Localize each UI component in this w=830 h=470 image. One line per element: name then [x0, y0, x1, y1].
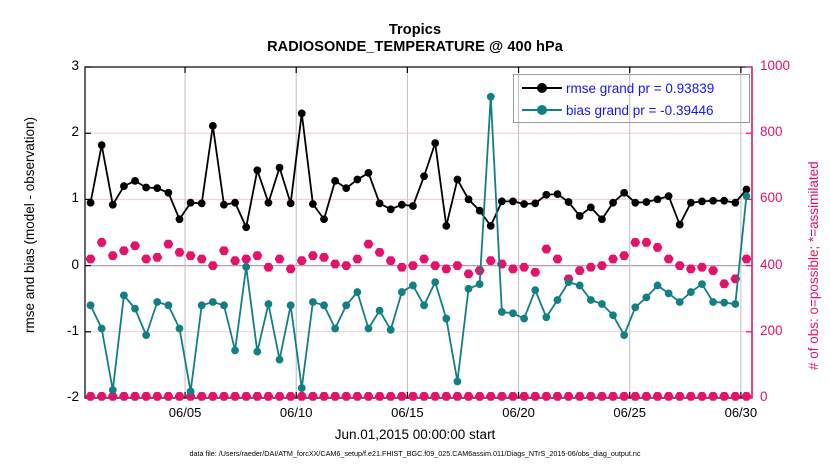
series-point-rmse — [410, 203, 417, 210]
legend-swatch-bias-icon — [520, 101, 564, 119]
series-point-bias — [465, 285, 472, 292]
y-axis-left-tick: 3 — [39, 58, 79, 73]
y-axis-right-tick: 200 — [760, 323, 820, 338]
series-point-bias — [432, 279, 439, 286]
legend-label-rmse: rmse grand pr = 0.93839 — [566, 81, 714, 96]
series-point-rmse — [599, 216, 606, 223]
series-point-bias — [298, 385, 305, 392]
series-point-bias — [221, 302, 228, 309]
series-point-bias — [98, 325, 105, 332]
series-point-bias — [232, 347, 239, 354]
series-point-bias — [554, 297, 561, 304]
series-point-rmse — [198, 200, 205, 207]
series-point-rmse — [621, 189, 628, 196]
series-point-bias — [587, 297, 594, 304]
series-point-bias — [176, 325, 183, 332]
series-point-rmse — [487, 222, 494, 229]
series-point-rmse — [432, 140, 439, 147]
series-point-bias — [487, 93, 494, 100]
series-point-bias — [187, 388, 194, 395]
y-axis-left-tick: 1 — [39, 190, 79, 205]
series-point-bias — [498, 309, 505, 316]
series-point-bias — [165, 302, 172, 309]
y-axis-right-tick: 800 — [760, 124, 820, 139]
x-axis-tick: 06/05 — [150, 405, 220, 420]
series-point-rmse — [232, 199, 239, 206]
series-point-rmse — [87, 199, 94, 206]
legend-label-bias: bias grand pr = -0.39446 — [566, 103, 713, 118]
series-point-bias — [309, 299, 316, 306]
series-point-bias — [676, 299, 683, 306]
series-point-bias — [476, 281, 483, 288]
series-point-rmse — [387, 206, 394, 213]
series-point-bias — [510, 310, 517, 317]
series-point-rmse — [476, 207, 483, 214]
series-point-rmse — [343, 185, 350, 192]
series-point-bias — [398, 289, 405, 296]
series-point-bias — [354, 289, 361, 296]
y-axis-right-tick: 0 — [760, 389, 820, 404]
series-point-bias — [410, 282, 417, 289]
series-point-rmse — [421, 173, 428, 180]
y-axis-right-tick: 400 — [760, 257, 820, 272]
series-point-bias — [454, 378, 461, 385]
series-point-rmse — [176, 216, 183, 223]
x-axis-tick: 06/20 — [484, 405, 554, 420]
chart-screenshot: Tropics RADIOSONDE_TEMPERATURE @ 400 hPa… — [0, 0, 830, 470]
series-point-rmse — [165, 189, 172, 196]
series-point-bias — [154, 299, 161, 306]
series-point-bias — [621, 332, 628, 339]
y-axis-left-label: rmse and bias (model - observation) — [22, 95, 37, 355]
plot-canvas — [0, 0, 830, 470]
series-point-bias — [721, 299, 728, 306]
series-point-bias — [632, 304, 639, 311]
series-point-rmse — [565, 199, 572, 206]
series-point-bias — [287, 302, 294, 309]
series-point-rmse — [643, 199, 650, 206]
series-point-bias — [265, 301, 272, 308]
series-point-rmse — [276, 164, 283, 171]
series-point-bias — [699, 281, 706, 288]
series-point-bias — [343, 302, 350, 309]
series-point-bias — [599, 301, 606, 308]
series-point-rmse — [687, 199, 694, 206]
x-axis-tick: 06/10 — [261, 405, 331, 420]
series-point-rmse — [254, 167, 261, 174]
series-point-bias — [121, 292, 128, 299]
series-point-rmse — [454, 176, 461, 183]
series-point-rmse — [287, 200, 294, 207]
series-point-bias — [387, 326, 394, 333]
series-point-bias — [132, 305, 139, 312]
series-point-bias — [143, 332, 150, 339]
series-point-rmse — [521, 201, 528, 208]
series-point-bias — [365, 325, 372, 332]
series-point-rmse — [610, 199, 617, 206]
series-point-rmse — [376, 200, 383, 207]
y-axis-left-tick: -1 — [39, 323, 79, 338]
series-point-rmse — [209, 123, 216, 130]
series-point-rmse — [365, 170, 372, 177]
series-point-rmse — [665, 193, 672, 200]
series-point-rmse — [354, 176, 361, 183]
y-axis-left-tick: -2 — [39, 389, 79, 404]
series-point-rmse — [554, 191, 561, 198]
series-point-rmse — [676, 221, 683, 228]
series-point-bias — [521, 315, 528, 322]
series-point-bias — [710, 299, 717, 306]
series-point-bias — [665, 290, 672, 297]
series-point-rmse — [98, 142, 105, 149]
series-point-bias — [654, 282, 661, 289]
series-point-rmse — [465, 196, 472, 203]
series-point-bias — [576, 282, 583, 289]
series-point-rmse — [243, 224, 250, 231]
series-point-rmse — [265, 199, 272, 206]
series-point-bias — [376, 307, 383, 314]
legend-item-bias: bias grand pr = -0.39446 — [514, 99, 713, 121]
x-axis-tick: 06/15 — [372, 405, 442, 420]
data-file-footer: data file: /Users/raeder/DAI/ATM_forcXX/… — [0, 449, 830, 458]
series-point-bias — [332, 325, 339, 332]
series-point-bias — [610, 312, 617, 319]
series-point-rmse — [543, 191, 550, 198]
series-point-rmse — [298, 110, 305, 117]
y-axis-left-tick: 2 — [39, 124, 79, 139]
chart-legend: rmse grand pr = 0.93839 bias grand pr = … — [513, 74, 750, 123]
series-point-bias — [643, 294, 650, 301]
series-point-bias — [732, 301, 739, 308]
y-axis-left-tick: 0 — [39, 257, 79, 272]
series-point-rmse — [109, 201, 116, 208]
series-point-rmse — [121, 183, 128, 190]
series-point-bias — [565, 279, 572, 286]
series-point-bias — [321, 302, 328, 309]
series-point-rmse — [321, 216, 328, 223]
legend-swatch-rmse-icon — [520, 79, 564, 97]
series-point-rmse — [532, 200, 539, 207]
x-axis-label: Jun.01,2015 00:00:00 start — [0, 427, 830, 442]
series-point-rmse — [587, 204, 594, 211]
series-line-rmse — [91, 113, 747, 227]
series-point-bias — [532, 287, 539, 294]
series-point-rmse — [576, 213, 583, 220]
series-point-rmse — [654, 196, 661, 203]
series-point-rmse — [699, 198, 706, 205]
series-point-bias — [243, 264, 250, 271]
series-point-rmse — [332, 177, 339, 184]
series-point-bias — [198, 302, 205, 309]
x-axis-tick: 06/30 — [706, 405, 776, 420]
series-point-bias — [421, 302, 428, 309]
series-point-rmse — [732, 199, 739, 206]
series-point-rmse — [132, 177, 139, 184]
series-point-rmse — [398, 201, 405, 208]
series-point-bias — [209, 299, 216, 306]
series-point-rmse — [221, 201, 228, 208]
y-axis-right-tick: 600 — [760, 190, 820, 205]
series-point-rmse — [443, 222, 450, 229]
series-point-bias — [743, 193, 750, 200]
series-point-rmse — [154, 185, 161, 192]
series-point-bias — [254, 348, 261, 355]
series-point-bias — [276, 356, 283, 363]
legend-item-rmse: rmse grand pr = 0.93839 — [514, 77, 714, 99]
series-point-bias — [543, 314, 550, 321]
series-point-bias — [109, 387, 116, 394]
series-point-rmse — [498, 198, 505, 205]
series-point-rmse — [510, 198, 517, 205]
series-point-bias — [87, 302, 94, 309]
series-point-bias — [443, 315, 450, 322]
series-point-rmse — [721, 197, 728, 204]
series-point-rmse — [632, 199, 639, 206]
series-point-rmse — [743, 186, 750, 193]
series-point-rmse — [143, 184, 150, 191]
series-point-rmse — [187, 199, 194, 206]
series-point-bias — [687, 289, 694, 296]
y-axis-right-tick: 1000 — [760, 58, 820, 73]
series-point-rmse — [309, 201, 316, 208]
x-axis-tick: 06/25 — [595, 405, 665, 420]
series-point-rmse — [710, 197, 717, 204]
